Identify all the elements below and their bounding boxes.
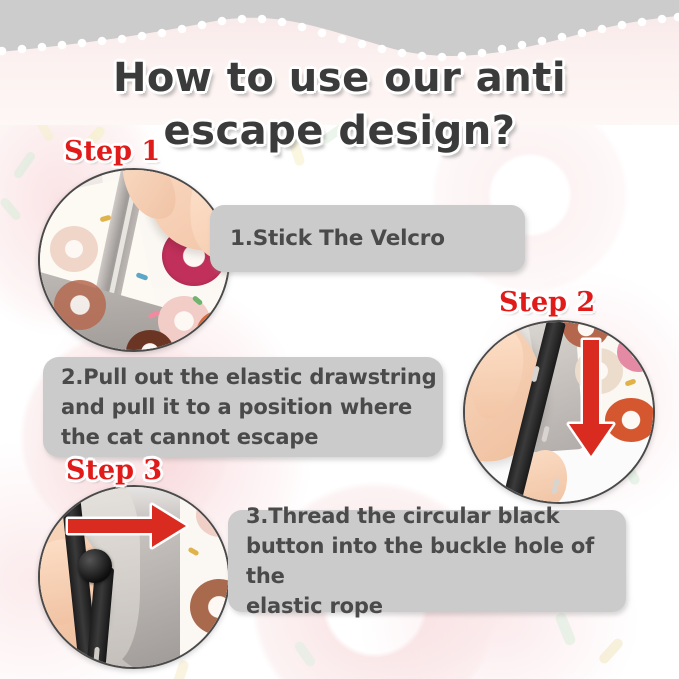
background-sprinkle (293, 640, 317, 669)
step-2-caption-line-1: 2.Pull out the elastic drawstring (61, 362, 443, 392)
step-2-caption-line-2: and pull it to a position where (61, 392, 443, 422)
step-2-caption-line-3: the cat cannot escape (61, 422, 443, 452)
step-1-label: Step 1 (64, 138, 160, 165)
circular-black-button (78, 549, 112, 583)
step-3-photo (38, 485, 230, 669)
step-2-photo (463, 320, 655, 504)
step-3-caption-box: 3.Thread the circular black button into … (228, 510, 626, 612)
donut-graphic (617, 332, 653, 372)
step-3-caption-text: 3.Thread the circular black button into … (228, 501, 626, 621)
background-sprinkle (288, 139, 306, 167)
step-3-caption-line-1: 3.Thread the circular black (246, 501, 626, 531)
infographic-canvas: How to use our anti escape design? (0, 0, 679, 679)
step-2-label: Step 2 (499, 289, 595, 316)
background-sprinkle (12, 150, 37, 180)
step-2-caption-box: 2.Pull out the elastic drawstring and pu… (43, 357, 443, 457)
step-3-caption-line-2: button into the buckle hole of the (246, 531, 626, 591)
down-red-arrow-icon (561, 336, 621, 466)
right-red-arrow-icon (64, 499, 194, 553)
step-1-caption-text: 1.Stick The Velcro (210, 224, 525, 253)
step-2-caption-text: 2.Pull out the elastic drawstring and pu… (43, 362, 443, 452)
header-wave-band (0, 0, 679, 120)
donut-graphic (50, 226, 98, 272)
step-1-caption-box: 1.Stick The Velcro (210, 205, 525, 272)
step-3-label: Step 3 (66, 457, 162, 484)
step-1-photo (38, 168, 230, 352)
donut-graphic (54, 280, 106, 330)
background-sprinkle (597, 637, 625, 666)
step-3-caption-line-3: elastic rope (246, 591, 626, 621)
background-sprinkle (0, 196, 22, 222)
